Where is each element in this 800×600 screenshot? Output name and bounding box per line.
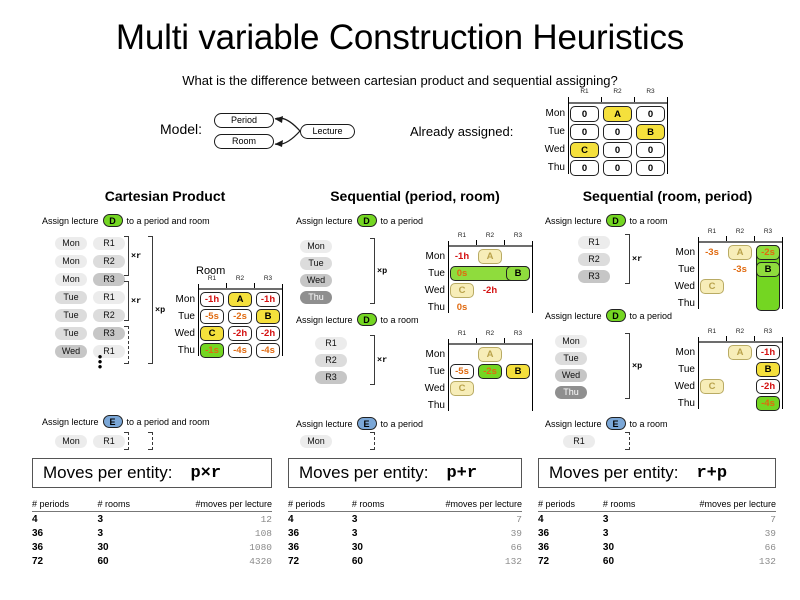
grid-tick [726, 336, 727, 341]
results-cell: 72 [288, 554, 352, 568]
results-table: # periods# rooms#moves per lecture431236… [32, 498, 272, 568]
grid-col-header: R1 [699, 228, 725, 235]
lecture-chip-e[interactable]: E [357, 417, 377, 430]
column-heading-seq-rp: Sequential (room, period) [540, 188, 795, 204]
results-cell: 12 [163, 512, 272, 527]
moves-box: Moves per entity: p×r [32, 458, 272, 488]
moves-label: Moves per entity: [549, 463, 678, 483]
grid-col-header: R3 [638, 88, 664, 95]
grid-tick [226, 283, 227, 288]
bracket-inner-label-1: ×r [131, 251, 141, 261]
bracket-inner-1 [124, 236, 129, 276]
assign-pre-text: Assign lecture [42, 216, 99, 226]
results-col-header: # periods [538, 498, 603, 512]
lecture-chip-e[interactable]: E [606, 417, 626, 430]
table-row: 363066 [288, 540, 522, 554]
grid-row-header: Wed [170, 328, 195, 339]
model-node-room: Room [214, 134, 274, 149]
assign-post-text: to a period [381, 216, 424, 226]
pair-room-chip: R2 [93, 255, 125, 268]
tail-chip-room: R1 [93, 435, 125, 448]
grid-cell: -1s [200, 343, 224, 358]
grid-axis-line [782, 237, 783, 309]
seq-rp-grid-period: R1R2R3MonTueWedThuA-1hBC-2h-4s [670, 328, 784, 414]
assign-post-text: to a room [630, 216, 668, 226]
grid-cell: A [728, 345, 752, 360]
grid-row-header: Tue [670, 264, 695, 275]
list-item-chip: Tue [555, 352, 587, 365]
lecture-chip-d[interactable]: D [357, 214, 377, 227]
list-item-chip: Mon [300, 240, 332, 253]
grid-row-header: Tue [420, 366, 445, 377]
grid-col-header: R2 [727, 228, 753, 235]
grid-cell: -3s [728, 262, 752, 277]
grid-cell: 0 [570, 106, 599, 122]
moves-formula: p+r [446, 464, 477, 483]
results-cell: 3 [97, 526, 162, 540]
grid-cell: B [636, 124, 665, 140]
results-col-header: #moves per lecture [668, 498, 776, 512]
ellipsis-dots-cartesian: ••• [93, 354, 107, 369]
grid-axis-line [448, 245, 532, 247]
grid-cell: -2h [228, 326, 252, 341]
grid-row-header: Mon [540, 108, 565, 119]
grid-cell: -2s [228, 309, 252, 324]
grid-row-header: Thu [170, 345, 195, 356]
results-col-header: # periods [288, 498, 352, 512]
moves-formula: r+p [696, 464, 727, 483]
moves-label: Moves per entity: [43, 463, 172, 483]
lecture-chip-d[interactable]: D [357, 313, 377, 326]
grid-axis-line [532, 241, 533, 313]
grid-cell: A [603, 106, 632, 122]
tail-chip-seq-rp: R1 [563, 435, 595, 448]
grid-cell: 0 [636, 142, 665, 158]
grid-tick [754, 236, 755, 241]
grid-cell: B [506, 266, 530, 281]
grid-cell: C [450, 381, 474, 396]
results-cell: 36 [288, 540, 352, 554]
grid-row-header: Thu [670, 398, 695, 409]
grid-row-header: Tue [540, 126, 565, 137]
list-item-chip: Wed [555, 369, 587, 382]
results-cell: 132 [668, 554, 776, 568]
grid-cell: -5s [200, 309, 224, 324]
grid-row-header: Thu [670, 298, 695, 309]
grid-row-header: Wed [420, 383, 445, 394]
pair-room-chip: R1 [93, 291, 125, 304]
lecture-chip-d[interactable]: D [606, 309, 626, 322]
bracket-seq-pr-2-label: ×r [377, 355, 387, 365]
list-item-chip: R2 [315, 354, 347, 367]
grid-tick [476, 338, 477, 343]
results-col-header: # rooms [97, 498, 162, 512]
assign-post-text: to a room [630, 419, 668, 429]
list-item-chip: Wed [300, 274, 332, 287]
assign-pre-text: Assign lecture [545, 216, 602, 226]
grid-row-header: Wed [670, 381, 695, 392]
grid-axis-line [448, 339, 449, 411]
table-row: 437 [288, 512, 522, 527]
grid-cell: -2s [478, 364, 502, 379]
list-item-chip: Thu [300, 291, 332, 304]
pair-period-chip: Mon [55, 237, 87, 250]
table-row: 7260132 [288, 554, 522, 568]
grid-cell: A [228, 292, 252, 307]
assign-line-d-room: Assign lectureDto a room [296, 313, 419, 326]
page-title: Multi variable Construction Heuristics [0, 18, 800, 58]
assign-line-d-period-3: Assign lectureDto a period [545, 309, 672, 322]
results-cell: 30 [97, 540, 162, 554]
grid-axis-line [698, 341, 782, 343]
results-cell: 30 [603, 540, 668, 554]
grid-axis-line [782, 337, 783, 409]
results-cell: 108 [163, 526, 272, 540]
table-row: 36339 [288, 526, 522, 540]
already-assigned-grid: R1R2R3MonTueWedThu0A000BC00000 [540, 88, 669, 179]
grid-cell: A [478, 347, 502, 362]
bracket-outer-cartesian [148, 236, 153, 364]
list-item-chip: R3 [315, 371, 347, 384]
grid-cell: -1h [450, 249, 474, 264]
results-cell: 36 [538, 526, 603, 540]
bracket-inner-3-dashed [124, 326, 129, 364]
pair-room-chip: R3 [93, 327, 125, 340]
results-cell: 60 [603, 554, 668, 568]
grid-axis-line [698, 241, 782, 243]
grid-tick [726, 236, 727, 241]
assign-line-d-period: Assign lectureDto a period [296, 214, 423, 227]
grid-col-header: R2 [727, 328, 753, 335]
grid-cell: 0 [636, 160, 665, 176]
results-cell: 132 [416, 554, 522, 568]
column-heading-seq-pr: Sequential (period, room) [290, 188, 540, 204]
grid-cell: C [450, 283, 474, 298]
results-cell: 30 [352, 540, 416, 554]
moves-box: Moves per entity: r+p [538, 458, 776, 488]
results-table: # periods# rooms#moves per lecture437363… [288, 498, 522, 568]
grid-cell: 0 [636, 106, 665, 122]
assign-pre-text: Assign lecture [296, 419, 353, 429]
grid-row-header: Tue [170, 311, 195, 322]
assign-line-e-room-3: Assign lectureEto a room [545, 417, 668, 430]
results-col-header: # rooms [603, 498, 668, 512]
grid-cell: -3s [700, 245, 724, 260]
grid-col-header: R1 [449, 232, 475, 239]
grid-axis-line [282, 284, 283, 356]
bracket-seq-rp-2-label: ×p [632, 361, 642, 371]
tail-chip-seq-pr: Mon [300, 435, 332, 448]
list-item-chip: R3 [578, 270, 610, 283]
grid-cell: B [756, 362, 780, 377]
grid-col-header: R2 [477, 330, 503, 337]
grid-col-header: R3 [755, 328, 781, 335]
bracket-inner-2 [124, 281, 129, 321]
assign-pre-text: Assign lecture [545, 311, 602, 321]
results-cell: 66 [416, 540, 522, 554]
table-row: 72604320 [32, 554, 272, 568]
pair-period-chip: Tue [55, 291, 87, 304]
grid-tick [476, 240, 477, 245]
grid-axis-line [448, 241, 449, 313]
grid-col-header: R2 [227, 275, 253, 282]
grid-row-header: Wed [540, 144, 565, 155]
assign-line-d-cartesian: Assign lectureDto a period and room [42, 214, 210, 227]
grid-row-header: Mon [670, 247, 695, 258]
moves-formula: p×r [190, 464, 221, 483]
bracket-inner-label-2: ×r [131, 296, 141, 306]
grid-axis-line [198, 288, 282, 290]
list-item-chip: R1 [315, 337, 347, 350]
grid-cell: A [728, 245, 752, 260]
pair-room-chip: R1 [93, 237, 125, 250]
bracket-seq-pr-1-label: ×p [377, 266, 387, 276]
cartesian-result-grid: R1R2R3MonTueWedThu-1hA-1h-5s-2sBC-2h-2h-… [170, 275, 284, 361]
grid-row-header: Wed [670, 281, 695, 292]
bracket-seq-rp-1 [625, 234, 630, 284]
table-row: 437 [538, 512, 776, 527]
pair-room-chip: R2 [93, 309, 125, 322]
grid-cell: -2h [478, 283, 502, 298]
results-cell: 7 [416, 512, 522, 527]
seq-pr-grid-period: R1R2R3MonTueWedThu-1hA0sBC-2h0s [420, 232, 534, 318]
assign-post-text: to a period and room [127, 417, 210, 427]
assign-pre-text: Assign lecture [296, 216, 353, 226]
moves-label: Moves per entity: [299, 463, 428, 483]
list-item-chip: Mon [555, 335, 587, 348]
bracket-seq-pr-2 [370, 335, 375, 385]
list-item-chip: R1 [578, 236, 610, 249]
grid-axis-line [532, 339, 533, 411]
tail-bracket-seq-pr [370, 432, 375, 450]
grid-cell: -2h [256, 326, 280, 341]
table-row: 36339 [538, 526, 776, 540]
grid-cell: B [506, 364, 530, 379]
grid-cell: -2h [756, 379, 780, 394]
column-heading-cartesian: Cartesian Product [40, 188, 290, 204]
grid-cell: 0s [450, 300, 474, 315]
results-cell: 36 [32, 540, 97, 554]
results-cell: 4320 [163, 554, 272, 568]
grid-col-header: R2 [477, 232, 503, 239]
bracket-outer-label-cartesian: ×p [155, 305, 165, 315]
pair-period-chip: Tue [55, 327, 87, 340]
pair-period-chip: Mon [55, 273, 87, 286]
results-cell: 60 [97, 554, 162, 568]
assign-line-d-room-3: Assign lectureDto a room [545, 214, 668, 227]
results-col-header: #moves per lecture [163, 498, 272, 512]
assign-post-text: to a room [381, 315, 419, 325]
assign-post-text: to a period and room [127, 216, 210, 226]
grid-axis-line [198, 284, 199, 356]
grid-axis-line [698, 237, 699, 309]
grid-axis-line [667, 97, 668, 174]
grid-cell: 0 [570, 124, 599, 140]
grid-cell: -1h [756, 345, 780, 360]
tail-bracket-2 [148, 432, 153, 450]
bracket-seq-rp-2 [625, 333, 630, 399]
grid-tick [504, 338, 505, 343]
assign-line-e-cartesian: Assign lectureEto a period and room [42, 415, 210, 428]
tail-bracket-1 [124, 432, 129, 450]
grid-col-header: R1 [449, 330, 475, 337]
table-row: 363108 [32, 526, 272, 540]
grid-cell: B [756, 262, 780, 277]
grid-cell: B [256, 309, 280, 324]
grid-cell: C [200, 326, 224, 341]
results-cell: 36 [288, 526, 352, 540]
grid-col-header: R3 [505, 232, 531, 239]
grid-cell: C [700, 279, 724, 294]
grid-row-header: Thu [540, 162, 565, 173]
results-cell: 72 [32, 554, 97, 568]
grid-cell: 0 [570, 160, 599, 176]
grid-cell: -5s [450, 364, 474, 379]
results-cell: 3 [97, 512, 162, 527]
already-assigned-label: Already assigned: [410, 124, 513, 139]
results-col-header: #moves per lecture [416, 498, 522, 512]
results-cell: 3 [352, 526, 416, 540]
table-row: 7260132 [538, 554, 776, 568]
grid-col-header: R1 [199, 275, 225, 282]
grid-axis-line [568, 97, 569, 174]
grid-tick [754, 336, 755, 341]
grid-cell: 0 [603, 142, 632, 158]
lecture-chip-d[interactable]: D [606, 214, 626, 227]
list-item-chip: R2 [578, 253, 610, 266]
grid-cell: -4s [756, 396, 780, 411]
grid-col-header: R1 [572, 88, 598, 95]
bracket-seq-pr-1 [370, 238, 375, 304]
grid-cell: 0s [450, 266, 474, 281]
table-row: 36301080 [32, 540, 272, 554]
grid-axis-line [698, 337, 699, 409]
assign-pre-text: Assign lecture [545, 419, 602, 429]
list-item-chip: Thu [555, 386, 587, 399]
grid-row-header: Tue [670, 364, 695, 375]
assign-line-e-period: Assign lectureEto a period [296, 417, 423, 430]
grid-cell: C [570, 142, 599, 158]
tail-bracket-seq-rp [625, 432, 630, 450]
slide-root: Multi variable Construction Heuristics W… [0, 0, 800, 600]
seq-rp-grid-room: R1R2R3MonTueWedThu-3sA-2s-3sBC [670, 228, 784, 314]
results-cell: 4 [288, 512, 352, 527]
results-col-header: # rooms [352, 498, 416, 512]
bracket-seq-rp-1-label: ×r [632, 254, 642, 264]
lecture-chip-e[interactable]: E [103, 415, 123, 428]
seq-pr-grid-room: R1R2R3MonTueWedThuA-5s-2sBC [420, 330, 534, 416]
results-cell: 72 [538, 554, 603, 568]
pair-room-chip: R3 [93, 273, 125, 286]
grid-row-header: Mon [170, 294, 195, 305]
results-cell: 36 [538, 540, 603, 554]
results-cell: 3 [352, 512, 416, 527]
assign-post-text: to a period [381, 419, 424, 429]
grid-row-header: Mon [420, 251, 445, 262]
grid-tick [254, 283, 255, 288]
grid-col-header: R3 [755, 228, 781, 235]
results-cell: 39 [416, 526, 522, 540]
grid-col-header: R1 [699, 328, 725, 335]
grid-col-header: R3 [255, 275, 281, 282]
pair-period-chip: Mon [55, 255, 87, 268]
moves-box: Moves per entity: p+r [288, 458, 522, 488]
grid-tick [601, 97, 602, 102]
results-cell: 39 [668, 526, 776, 540]
results-cell: 1080 [163, 540, 272, 554]
grid-row-header: Mon [670, 347, 695, 358]
model-node-lecture: Lecture [300, 124, 355, 139]
grid-col-header: R3 [505, 330, 531, 337]
grid-axis-line [568, 102, 667, 104]
grid-tick [634, 97, 635, 102]
page-subtitle: What is the difference between cartesian… [0, 73, 800, 88]
grid-row-header: Wed [420, 285, 445, 296]
tail-chip-period: Mon [55, 435, 87, 448]
grid-tick [504, 240, 505, 245]
list-item-chip: Tue [300, 257, 332, 270]
grid-row-header: Tue [420, 268, 445, 279]
grid-axis-line [448, 343, 532, 345]
assign-pre-text: Assign lecture [296, 315, 353, 325]
grid-cell: C [700, 379, 724, 394]
grid-cell: -4s [228, 343, 252, 358]
pair-period-chip: Tue [55, 309, 87, 322]
results-cell: 7 [668, 512, 776, 527]
grid-col-header: R2 [605, 88, 631, 95]
results-table: # periods# rooms#moves per lecture437363… [538, 498, 776, 568]
results-cell: 4 [32, 512, 97, 527]
grid-cell: -2s [756, 245, 780, 260]
assign-post-text: to a period [630, 311, 673, 321]
results-cell: 66 [668, 540, 776, 554]
results-cell: 36 [32, 526, 97, 540]
results-col-header: # periods [32, 498, 97, 512]
grid-cell: 0 [603, 160, 632, 176]
table-row: 4312 [32, 512, 272, 527]
grid-cell: -4s [256, 343, 280, 358]
lecture-chip-d[interactable]: D [103, 214, 123, 227]
grid-cell: -1h [256, 292, 280, 307]
model-node-period: Period [214, 113, 274, 128]
results-cell: 60 [352, 554, 416, 568]
pair-period-chip: Wed [55, 345, 87, 358]
grid-row-header: Thu [420, 400, 445, 411]
grid-cell: A [478, 249, 502, 264]
assign-pre-text: Assign lecture [42, 417, 99, 427]
results-cell: 3 [603, 526, 668, 540]
grid-row-header: Mon [420, 349, 445, 360]
table-row: 363066 [538, 540, 776, 554]
results-cell: 3 [603, 512, 668, 527]
grid-cell: 0 [603, 124, 632, 140]
results-cell: 4 [538, 512, 603, 527]
grid-cell: -1h [200, 292, 224, 307]
grid-row-header: Thu [420, 302, 445, 313]
